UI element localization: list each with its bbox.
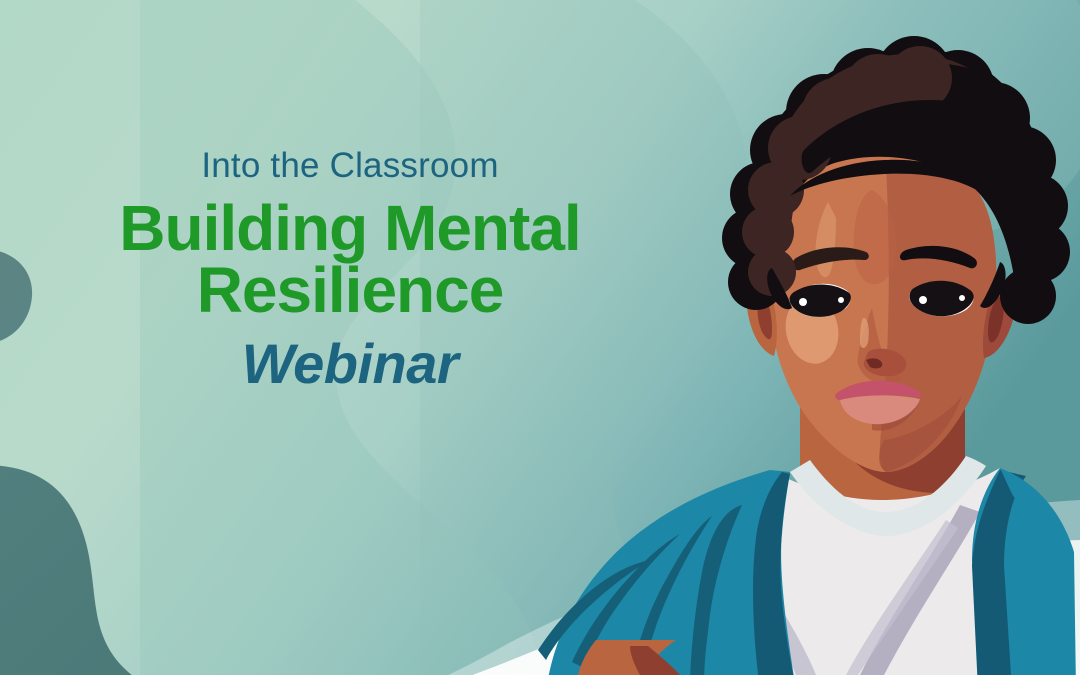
person-illustration	[0, 0, 1080, 675]
webinar-banner: Into the Classroom Building Mental Resil…	[0, 0, 1080, 675]
